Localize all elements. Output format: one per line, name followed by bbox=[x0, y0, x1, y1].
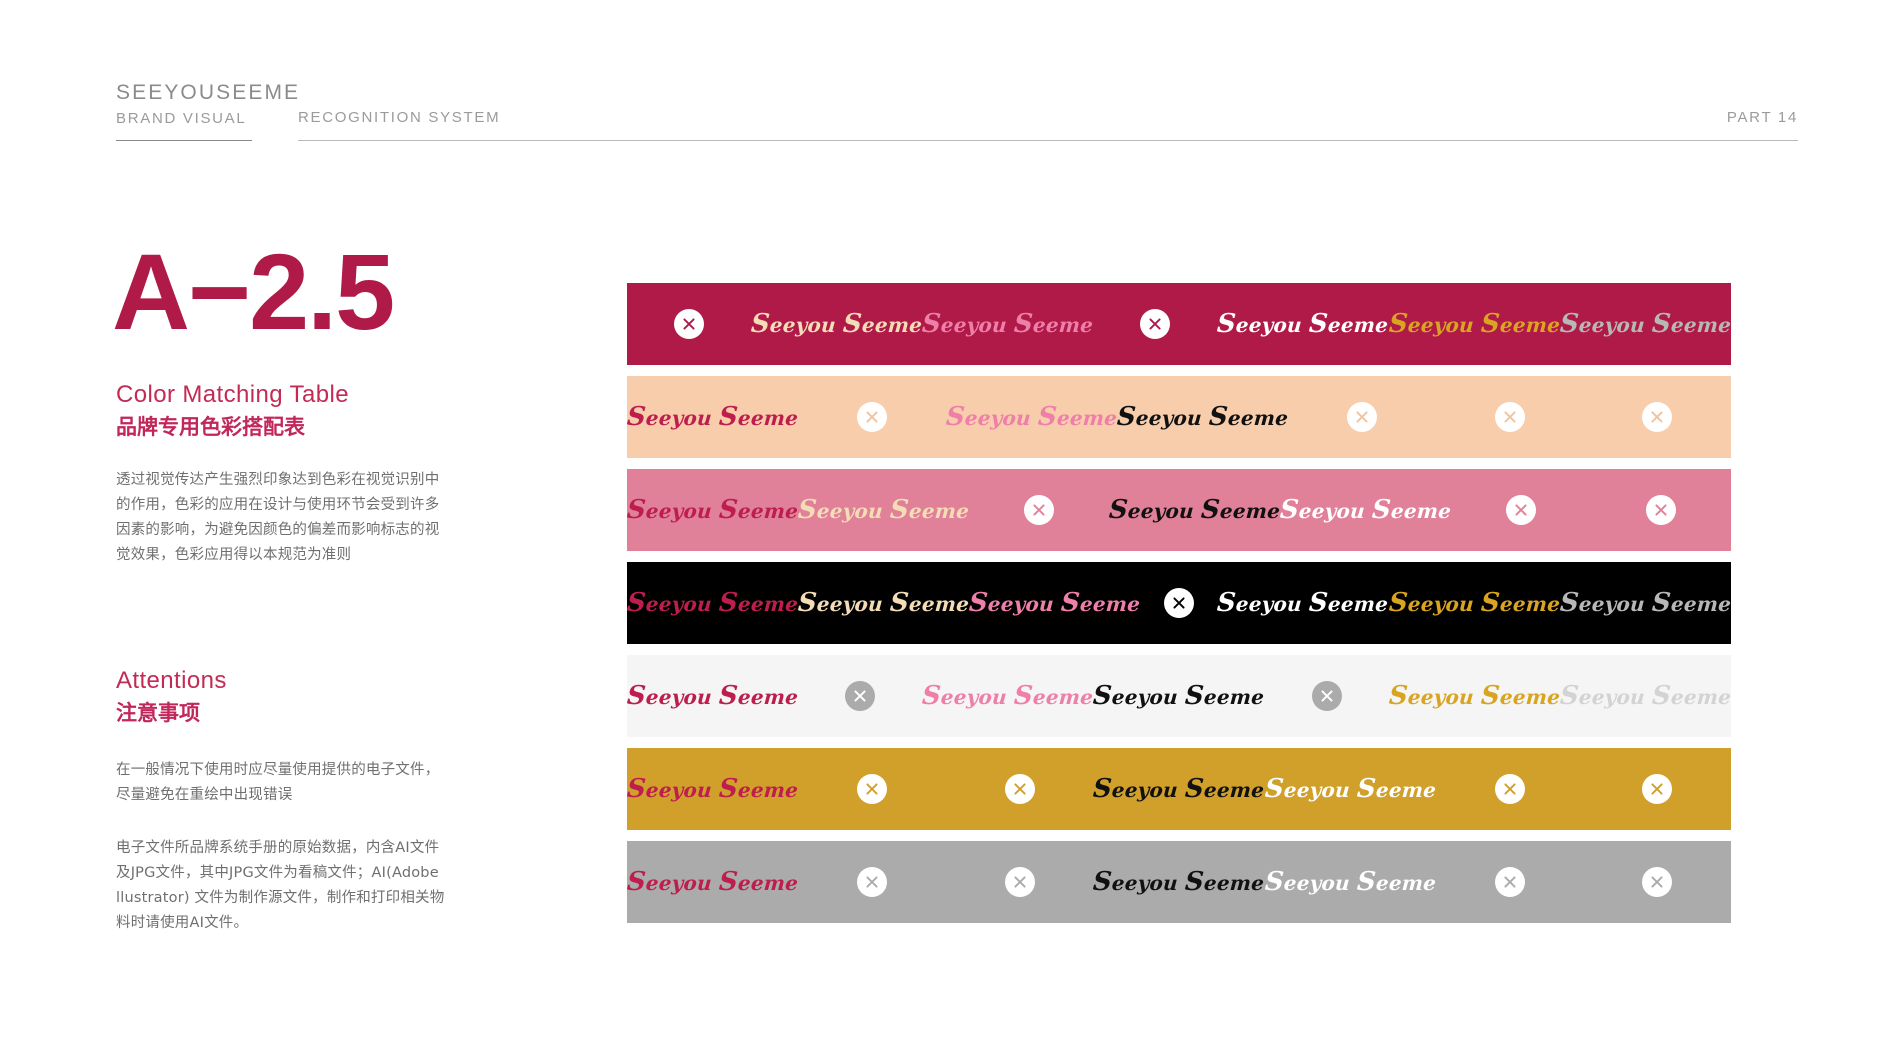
logo-wordmark: Seeyou Seeme bbox=[945, 402, 1118, 432]
logo-mark: Seeyou Seeme bbox=[1093, 841, 1264, 923]
logo-mark: Seeyou Seeme bbox=[1280, 469, 1451, 551]
x-circle-icon bbox=[1164, 588, 1194, 618]
forbidden-x-icon bbox=[1583, 841, 1731, 923]
logo-mark: Seeyou Seeme bbox=[969, 562, 1140, 644]
forbidden-x-icon bbox=[969, 469, 1109, 551]
logo-wordmark: Seeyou Seeme bbox=[750, 309, 923, 339]
forbidden-x-icon bbox=[946, 748, 1094, 830]
logo-wordmark: Seeyou Seeme bbox=[626, 774, 799, 804]
x-circle-icon bbox=[1495, 402, 1525, 432]
swatch-band-gray: Seeyou SeemeSeeyou SeemeSeeyou Seeme bbox=[627, 841, 1731, 923]
swatch-band-offwhite: Seeyou SeemeSeeyou SeemeSeeyou SeemeSeey… bbox=[627, 655, 1731, 737]
forbidden-x-icon bbox=[1436, 748, 1584, 830]
forbidden-x-icon bbox=[798, 655, 922, 737]
forbidden-x-icon bbox=[798, 841, 946, 923]
logo-mark: Seeyou Seeme bbox=[922, 655, 1093, 737]
forbidden-x-icon bbox=[1265, 655, 1389, 737]
brand-underline bbox=[116, 140, 252, 141]
x-circle-icon bbox=[1495, 867, 1525, 897]
logo-wordmark: Seeyou Seeme bbox=[626, 495, 799, 525]
forbidden-x-icon bbox=[946, 841, 1094, 923]
logo-mark: Seeyou Seeme bbox=[922, 283, 1093, 365]
swatch-band-pink: Seeyou SeemeSeeyou SeemeSeeyou SeemeSeey… bbox=[627, 469, 1731, 551]
logo-mark: Seeyou Seeme bbox=[627, 376, 798, 458]
swatch-band-peach: Seeyou SeemeSeeyou SeemeSeeyou Seeme bbox=[627, 376, 1731, 458]
logo-wordmark: Seeyou Seeme bbox=[1387, 588, 1560, 618]
header-section-title: RECOGNITION SYSTEM bbox=[298, 109, 500, 126]
logo-wordmark: Seeyou Seeme bbox=[921, 681, 1094, 711]
logo-mark: Seeyou Seeme bbox=[1265, 841, 1436, 923]
color-matching-section: Color Matching Table 品牌专用色彩搭配表 透过视觉传达产生强… bbox=[116, 380, 446, 568]
logo-wordmark: Seeyou Seeme bbox=[1264, 867, 1437, 897]
forbidden-x-icon bbox=[1093, 283, 1217, 365]
logo-mark: Seeyou Seeme bbox=[1560, 655, 1731, 737]
attentions-heading-cn: 注意事项 bbox=[116, 698, 446, 728]
logo-mark: Seeyou Seeme bbox=[1117, 376, 1288, 458]
logo-mark: Seeyou Seeme bbox=[751, 283, 922, 365]
logo-mark: Seeyou Seeme bbox=[1265, 748, 1436, 830]
attentions-section: Attentions 注意事项 在一般情况下使用时应尽量使用提供的电子文件，尽量… bbox=[116, 666, 446, 936]
forbidden-x-icon bbox=[1141, 562, 1218, 644]
forbidden-x-icon bbox=[1452, 469, 1592, 551]
logo-mark: Seeyou Seeme bbox=[627, 841, 798, 923]
x-circle-icon bbox=[845, 681, 875, 711]
logo-wordmark: Seeyou Seeme bbox=[1216, 588, 1389, 618]
section-heading-en: Color Matching Table bbox=[116, 380, 446, 410]
logo-mark: Seeyou Seeme bbox=[1217, 562, 1388, 644]
forbidden-x-icon bbox=[1583, 376, 1731, 458]
logo-mark: Seeyou Seeme bbox=[627, 562, 798, 644]
forbidden-x-icon bbox=[1436, 841, 1584, 923]
x-circle-icon bbox=[1312, 681, 1342, 711]
swatch-band-black: Seeyou SeemeSeeyou SeemeSeeyou SeemeSeey… bbox=[627, 562, 1731, 644]
brand-name: SEEYOUSEEME bbox=[116, 82, 300, 104]
logo-wordmark: Seeyou Seeme bbox=[1092, 681, 1265, 711]
logo-mark: Seeyou Seeme bbox=[627, 748, 798, 830]
x-circle-icon bbox=[857, 774, 887, 804]
swatch-band-crimson: Seeyou SeemeSeeyou SeemeSeeyou SeemeSeey… bbox=[627, 283, 1731, 365]
logo-wordmark: Seeyou Seeme bbox=[626, 588, 799, 618]
logo-mark: Seeyou Seeme bbox=[1093, 655, 1264, 737]
page-header: SEEYOUSEEME BRAND VISUAL RECOGNITION SYS… bbox=[116, 82, 1798, 144]
left-column: A−2.5 Color Matching Table 品牌专用色彩搭配表 透过视… bbox=[116, 240, 446, 936]
logo-wordmark: Seeyou Seeme bbox=[626, 402, 799, 432]
logo-wordmark: Seeyou Seeme bbox=[1092, 774, 1265, 804]
logo-wordmark: Seeyou Seeme bbox=[1264, 774, 1437, 804]
x-circle-icon bbox=[857, 402, 887, 432]
header-divider bbox=[298, 140, 1798, 141]
forbidden-x-icon bbox=[1591, 469, 1731, 551]
logo-wordmark: Seeyou Seeme bbox=[1559, 588, 1732, 618]
x-circle-icon bbox=[1005, 774, 1035, 804]
logo-wordmark: Seeyou Seeme bbox=[1116, 402, 1289, 432]
x-circle-icon bbox=[1024, 495, 1054, 525]
logo-wordmark: Seeyou Seeme bbox=[626, 681, 799, 711]
logo-mark: Seeyou Seeme bbox=[1560, 283, 1731, 365]
x-circle-icon bbox=[674, 309, 704, 339]
logo-mark: Seeyou Seeme bbox=[1093, 748, 1264, 830]
logo-wordmark: Seeyou Seeme bbox=[1092, 867, 1265, 897]
brand-lockup: SEEYOUSEEME BRAND VISUAL bbox=[116, 82, 300, 129]
attentions-body-2: 电子文件所品牌系统手册的原始数据，内含AI文件及JPG文件，其中JPG文件为看稿… bbox=[116, 836, 446, 936]
logo-wordmark: Seeyou Seeme bbox=[968, 588, 1141, 618]
logo-mark: Seeyou Seeme bbox=[627, 655, 798, 737]
forbidden-x-icon bbox=[798, 376, 946, 458]
logo-wordmark: Seeyou Seeme bbox=[1387, 309, 1560, 339]
logo-mark: Seeyou Seeme bbox=[1217, 283, 1388, 365]
logo-mark: Seeyou Seeme bbox=[798, 469, 969, 551]
logo-wordmark: Seeyou Seeme bbox=[797, 588, 970, 618]
x-circle-icon bbox=[1005, 867, 1035, 897]
x-circle-icon bbox=[1347, 402, 1377, 432]
x-circle-icon bbox=[857, 867, 887, 897]
logo-wordmark: Seeyou Seeme bbox=[1279, 495, 1452, 525]
header-part-number: PART 14 bbox=[1727, 109, 1798, 126]
logo-mark: Seeyou Seeme bbox=[1389, 562, 1560, 644]
logo-wordmark: Seeyou Seeme bbox=[1216, 309, 1389, 339]
x-circle-icon bbox=[1642, 774, 1672, 804]
x-circle-icon bbox=[1495, 774, 1525, 804]
logo-mark: Seeyou Seeme bbox=[946, 376, 1117, 458]
x-circle-icon bbox=[1642, 867, 1672, 897]
logo-mark: Seeyou Seeme bbox=[798, 562, 969, 644]
forbidden-x-icon bbox=[1288, 376, 1436, 458]
logo-mark: Seeyou Seeme bbox=[1389, 283, 1560, 365]
logo-wordmark: Seeyou Seeme bbox=[1559, 681, 1732, 711]
color-matching-table: Seeyou SeemeSeeyou SeemeSeeyou SeemeSeey… bbox=[627, 283, 1731, 934]
logo-wordmark: Seeyou Seeme bbox=[1387, 681, 1560, 711]
attentions-body-1: 在一般情况下使用时应尽量使用提供的电子文件，尽量避免在重绘中出现错误 bbox=[116, 758, 446, 808]
logo-wordmark: Seeyou Seeme bbox=[797, 495, 970, 525]
section-heading-cn: 品牌专用色彩搭配表 bbox=[116, 412, 446, 442]
forbidden-x-icon bbox=[1583, 748, 1731, 830]
forbidden-x-icon bbox=[798, 748, 946, 830]
x-circle-icon bbox=[1140, 309, 1170, 339]
x-circle-icon bbox=[1646, 495, 1676, 525]
logo-wordmark: Seeyou Seeme bbox=[1559, 309, 1732, 339]
page-title: A−2.5 bbox=[112, 240, 446, 344]
x-circle-icon bbox=[1642, 402, 1672, 432]
logo-mark: Seeyou Seeme bbox=[1109, 469, 1280, 551]
forbidden-x-icon bbox=[1436, 376, 1584, 458]
logo-wordmark: Seeyou Seeme bbox=[626, 867, 799, 897]
attentions-heading-en: Attentions bbox=[116, 666, 446, 696]
logo-wordmark: Seeyou Seeme bbox=[1108, 495, 1281, 525]
x-circle-icon bbox=[1506, 495, 1536, 525]
logo-mark: Seeyou Seeme bbox=[1560, 562, 1731, 644]
logo-wordmark: Seeyou Seeme bbox=[921, 309, 1094, 339]
section-body-cn: 透过视觉传达产生强烈印象达到色彩在视觉识别中的作用，色彩的应用在设计与使用环节会… bbox=[116, 468, 446, 568]
swatch-band-gold: Seeyou SeemeSeeyou SeemeSeeyou Seeme bbox=[627, 748, 1731, 830]
logo-mark: Seeyou Seeme bbox=[627, 469, 798, 551]
brand-subtitle: BRAND VISUAL bbox=[116, 109, 300, 129]
forbidden-x-icon bbox=[627, 283, 751, 365]
logo-mark: Seeyou Seeme bbox=[1389, 655, 1560, 737]
